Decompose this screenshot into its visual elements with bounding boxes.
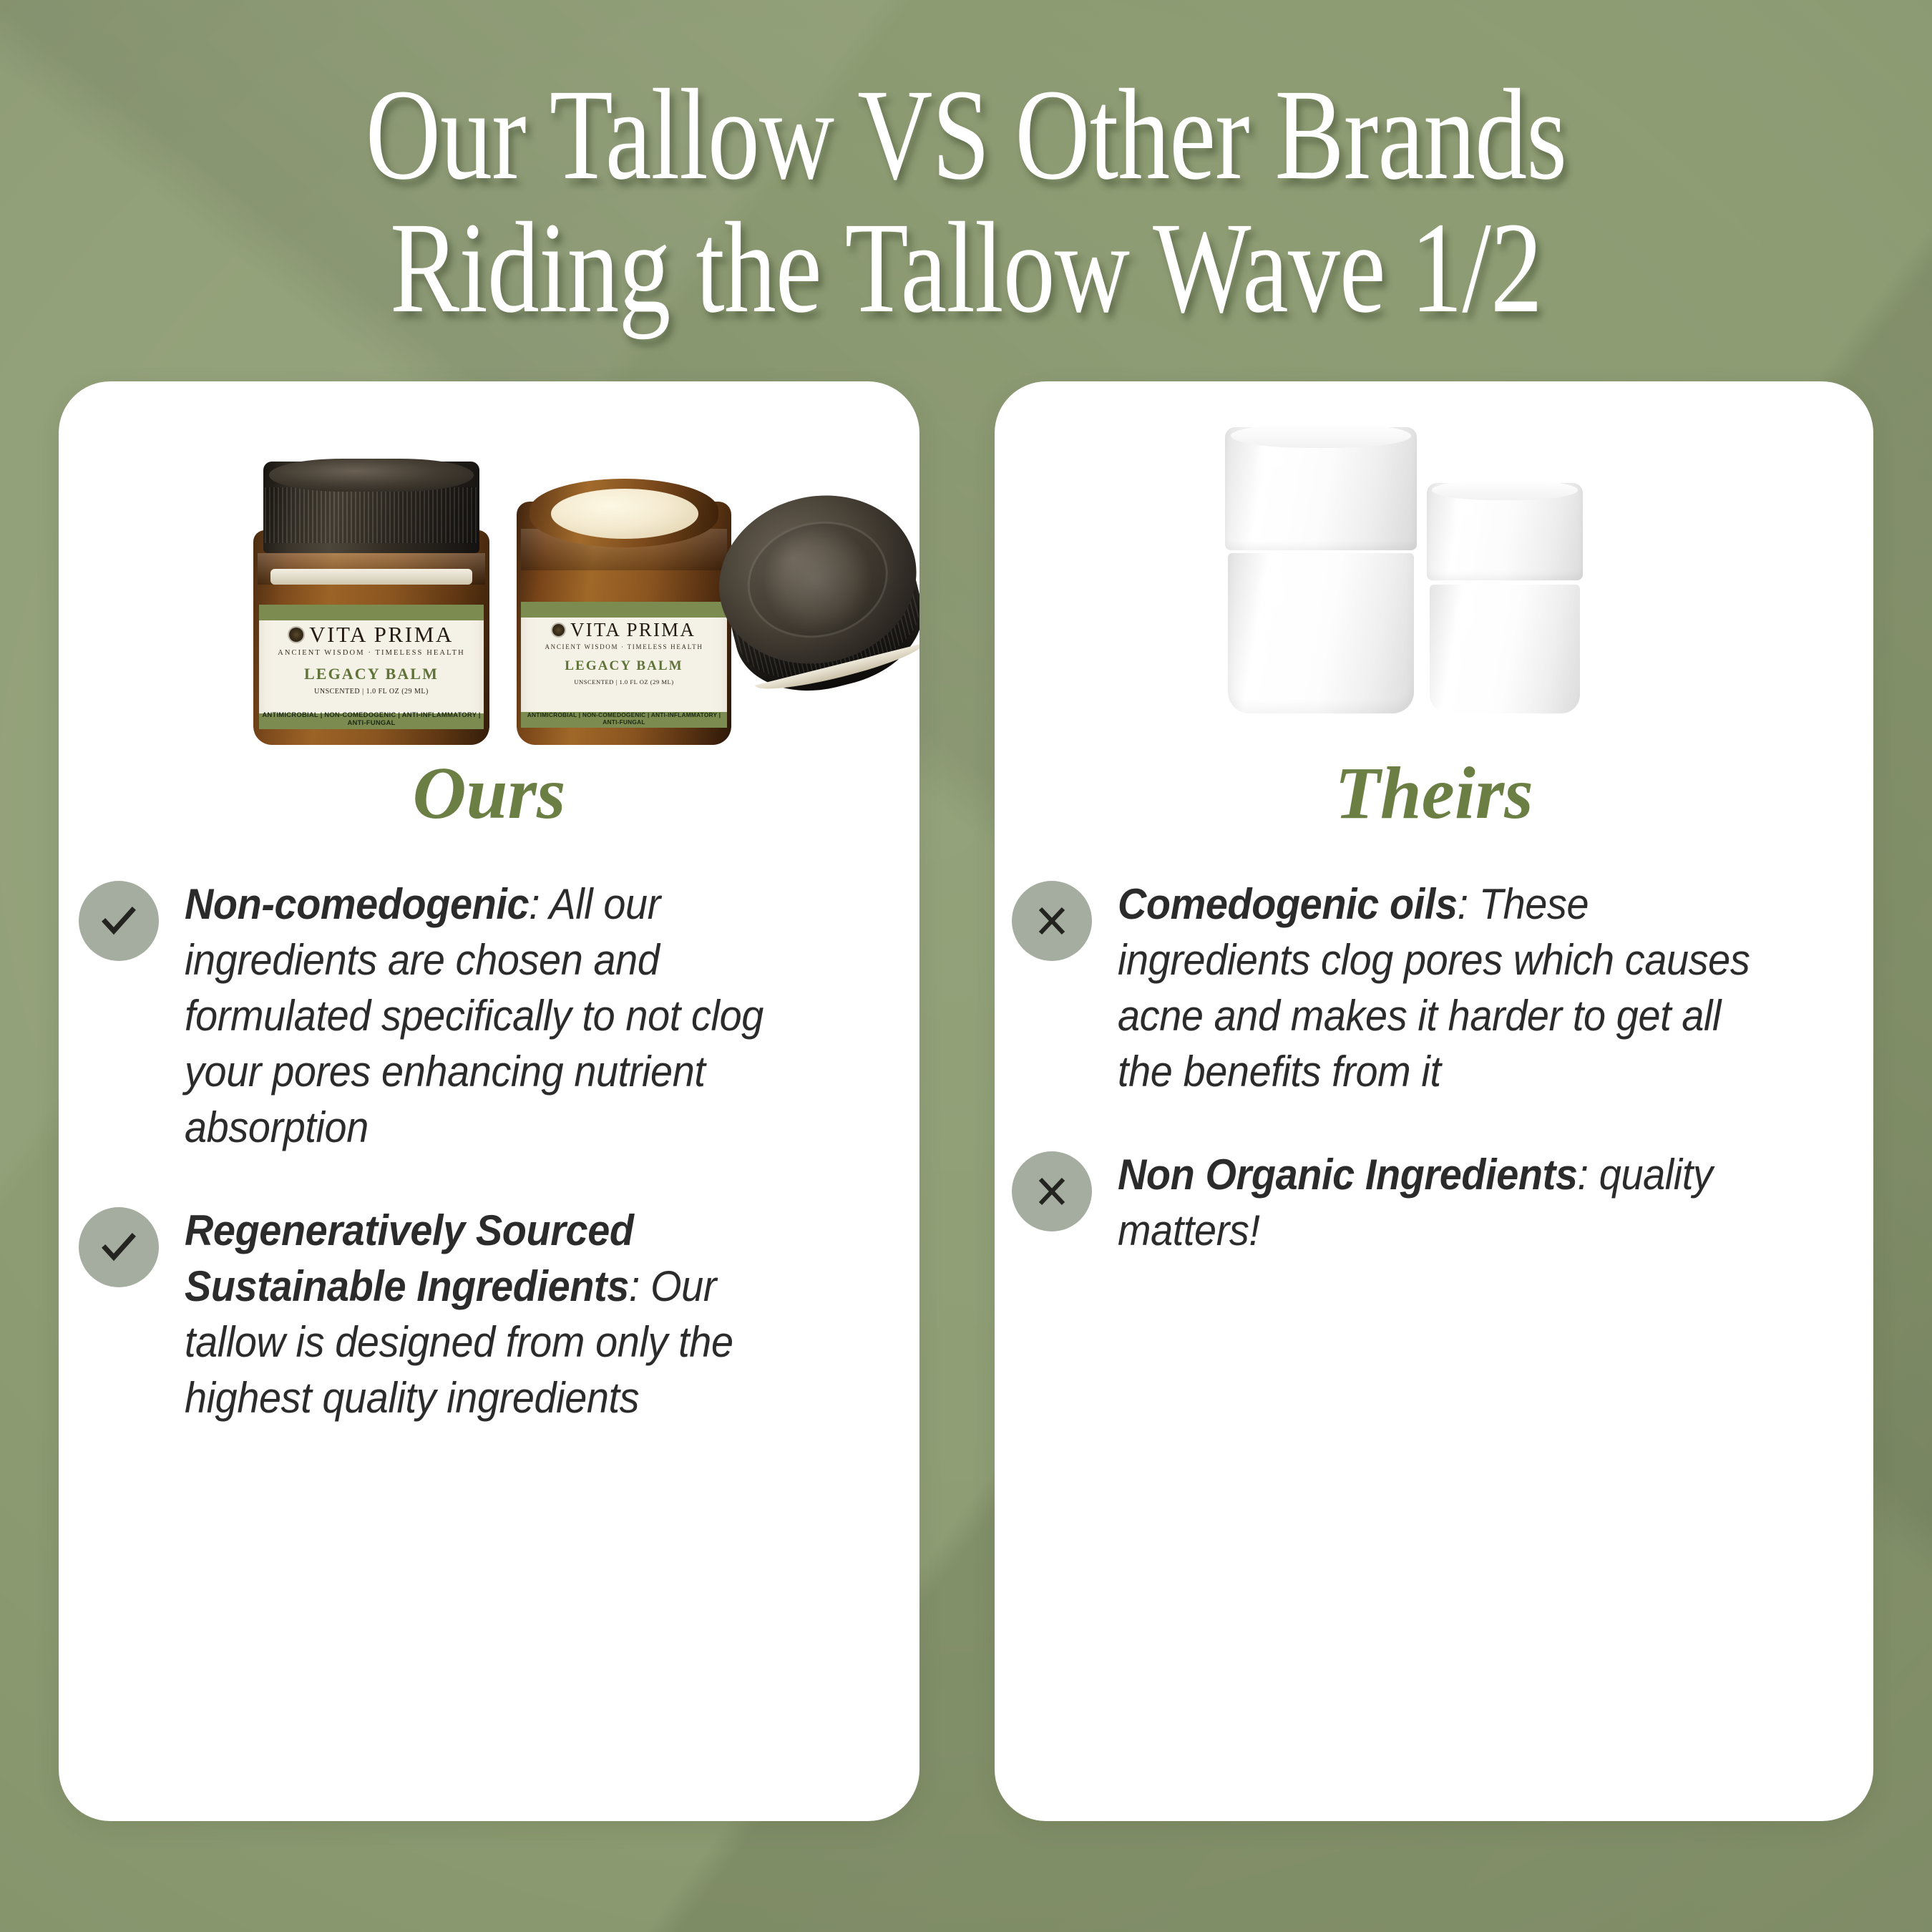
bullet-text: Non Organic Ingredients: quality matters… (1118, 1147, 1779, 1259)
label-product: LEGACY BALM (521, 658, 727, 674)
comparison-card-theirs: Theirs Comedogenic oils: These ingredien… (995, 381, 1873, 1821)
label-size: UNSCENTED | 1.0 FL OZ (29 ML) (521, 678, 727, 686)
label-tagline: ANCIENT WISDOM · TIMELESS HEALTH (521, 643, 727, 650)
white-jar-small (1427, 483, 1583, 713)
comparison-card-ours: VITA PRIMA ANCIENT WISDOM · TIMELESS HEA… (59, 381, 919, 1821)
list-item: Comedogenic oils: These ingredients clog… (995, 877, 1873, 1100)
jar-label-open: VITA PRIMA ANCIENT WISDOM · TIMELESS HEA… (521, 602, 727, 728)
bullet-list-ours: Non-comedogenic: All our ingredients are… (59, 877, 919, 1426)
label-claims: ANTIMICROBIAL | NON-COMEDOGENIC | ANTI-I… (259, 711, 484, 727)
label-tagline: ANCIENT WISDOM · TIMELESS HEALTH (259, 649, 484, 657)
check-icon (79, 1207, 159, 1287)
balm-surface (551, 489, 698, 539)
bullet-text: Non-comedogenic: All our ingredients are… (185, 877, 823, 1156)
label-brand: VITA PRIMA (309, 623, 454, 645)
label-claims: ANTIMICROBIAL | NON-COMEDOGENIC | ANTI-I… (521, 711, 727, 726)
rosette-icon (552, 624, 565, 636)
label-band-top (521, 602, 727, 618)
label-band-top (259, 605, 484, 620)
check-icon (79, 881, 159, 961)
white-jar-large (1225, 427, 1417, 713)
page-title: Our Tallow VS Other Brands Riding the Ta… (193, 69, 1739, 334)
product-photo-ours: VITA PRIMA ANCIENT WISDOM · TIMELESS HEA… (59, 396, 919, 732)
x-icon (1012, 1151, 1092, 1231)
bullet-lead: Non Organic Ingredients (1118, 1151, 1578, 1199)
label-brand: VITA PRIMA (570, 620, 696, 640)
amber-jar-lid (701, 475, 919, 731)
list-item: Non Organic Ingredients: quality matters… (995, 1147, 1873, 1259)
bullet-lead: Regeneratively Sourced Sustainable Ingre… (185, 1206, 634, 1310)
bullet-text: Comedogenic oils: These ingredients clog… (1118, 877, 1779, 1100)
list-item: Non-comedogenic: All our ingredients are… (59, 877, 919, 1156)
x-icon (1012, 881, 1092, 961)
column-heading-ours: Ours (59, 756, 919, 831)
amber-jar-closed: VITA PRIMA ANCIENT WISDOM · TIMELESS HEA… (253, 462, 489, 745)
rosette-icon (289, 628, 303, 642)
bullet-lead: Comedogenic oils (1118, 880, 1458, 928)
column-heading-theirs: Theirs (995, 756, 1873, 831)
bullet-list-theirs: Comedogenic oils: These ingredients clog… (995, 877, 1873, 1259)
product-photo-theirs (995, 396, 1873, 732)
list-item: Regeneratively Sourced Sustainable Ingre… (59, 1203, 919, 1426)
amber-jar-open: VITA PRIMA ANCIENT WISDOM · TIMELESS HEA… (517, 441, 731, 745)
label-product: LEGACY BALM (259, 665, 484, 683)
bullet-text: Regeneratively Sourced Sustainable Ingre… (185, 1203, 823, 1426)
jar-label-closed: VITA PRIMA ANCIENT WISDOM · TIMELESS HEA… (259, 605, 484, 729)
bullet-lead: Non-comedogenic (185, 880, 529, 928)
label-size: UNSCENTED | 1.0 FL OZ (29 ML) (259, 688, 484, 696)
